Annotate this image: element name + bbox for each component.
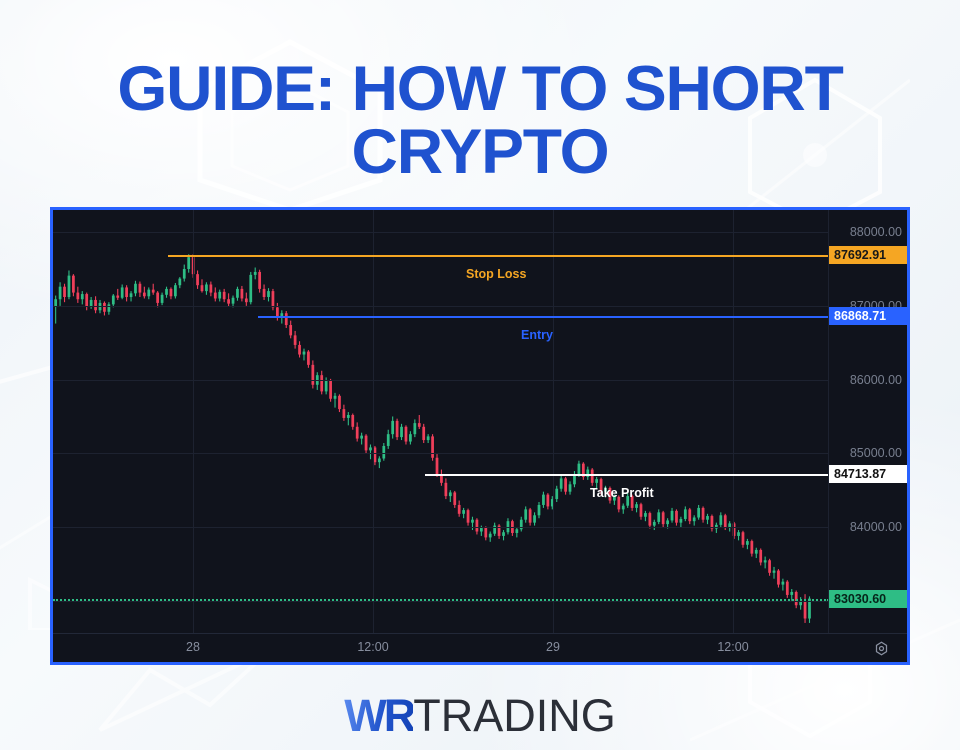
time-axis[interactable]: 2812:002912:00 [53,633,907,662]
brand-logo: WRTRADING [0,690,960,742]
level-label-stop-loss: Stop Loss [466,267,526,281]
gridline-horizontal [53,306,829,307]
gridline-horizontal [53,453,829,454]
price-tag-entry[interactable]: 86868.71 [829,307,907,325]
level-line-stop-loss[interactable] [168,255,829,257]
time-tick-label: 12:00 [717,640,748,654]
gridline-horizontal [53,601,829,602]
gridline-vertical [553,210,554,634]
price-tag-stop-loss[interactable]: 87692.91 [829,246,907,264]
gridline-horizontal [53,232,829,233]
level-label-entry: Entry [521,328,553,342]
page-title-line-2: CRYPTO [0,121,960,183]
level-label-take-profit: Take Profit [590,486,654,500]
gear-icon[interactable] [874,641,889,656]
level-line-entry[interactable] [258,316,829,318]
logo-mark: WR [344,690,413,741]
price-axis[interactable]: 88000.0087000.0086000.0085000.0084000.00… [828,210,907,634]
page-background: GUIDE: HOW TO SHORT CRYPTO Stop LossEntr… [0,0,960,750]
gridline-horizontal [53,527,829,528]
page-title-line-1: GUIDE: HOW TO SHORT [117,54,842,124]
price-tag-take-profit[interactable]: 84713.87 [829,465,907,483]
gridline-vertical [193,210,194,634]
gridline-horizontal [53,380,829,381]
level-line-take-profit[interactable] [425,474,829,476]
page-title: GUIDE: HOW TO SHORT CRYPTO [0,58,960,183]
gridline-vertical [733,210,734,634]
level-line-last-price[interactable] [53,599,829,601]
price-tick-label: 88000.00 [850,225,902,239]
trading-chart[interactable]: Stop LossEntryTake Profit 88000.0087000.… [50,207,910,665]
time-tick-label: 12:00 [357,640,388,654]
price-tag-last-price[interactable]: 83030.60 [829,590,907,608]
price-tick-label: 84000.00 [850,520,902,534]
time-tick-label: 28 [186,640,200,654]
logo-wordmark: TRADING [413,690,616,741]
price-tick-label: 85000.00 [850,446,902,460]
gridline-vertical [373,210,374,634]
price-tick-label: 86000.00 [850,373,902,387]
time-tick-label: 29 [546,640,560,654]
